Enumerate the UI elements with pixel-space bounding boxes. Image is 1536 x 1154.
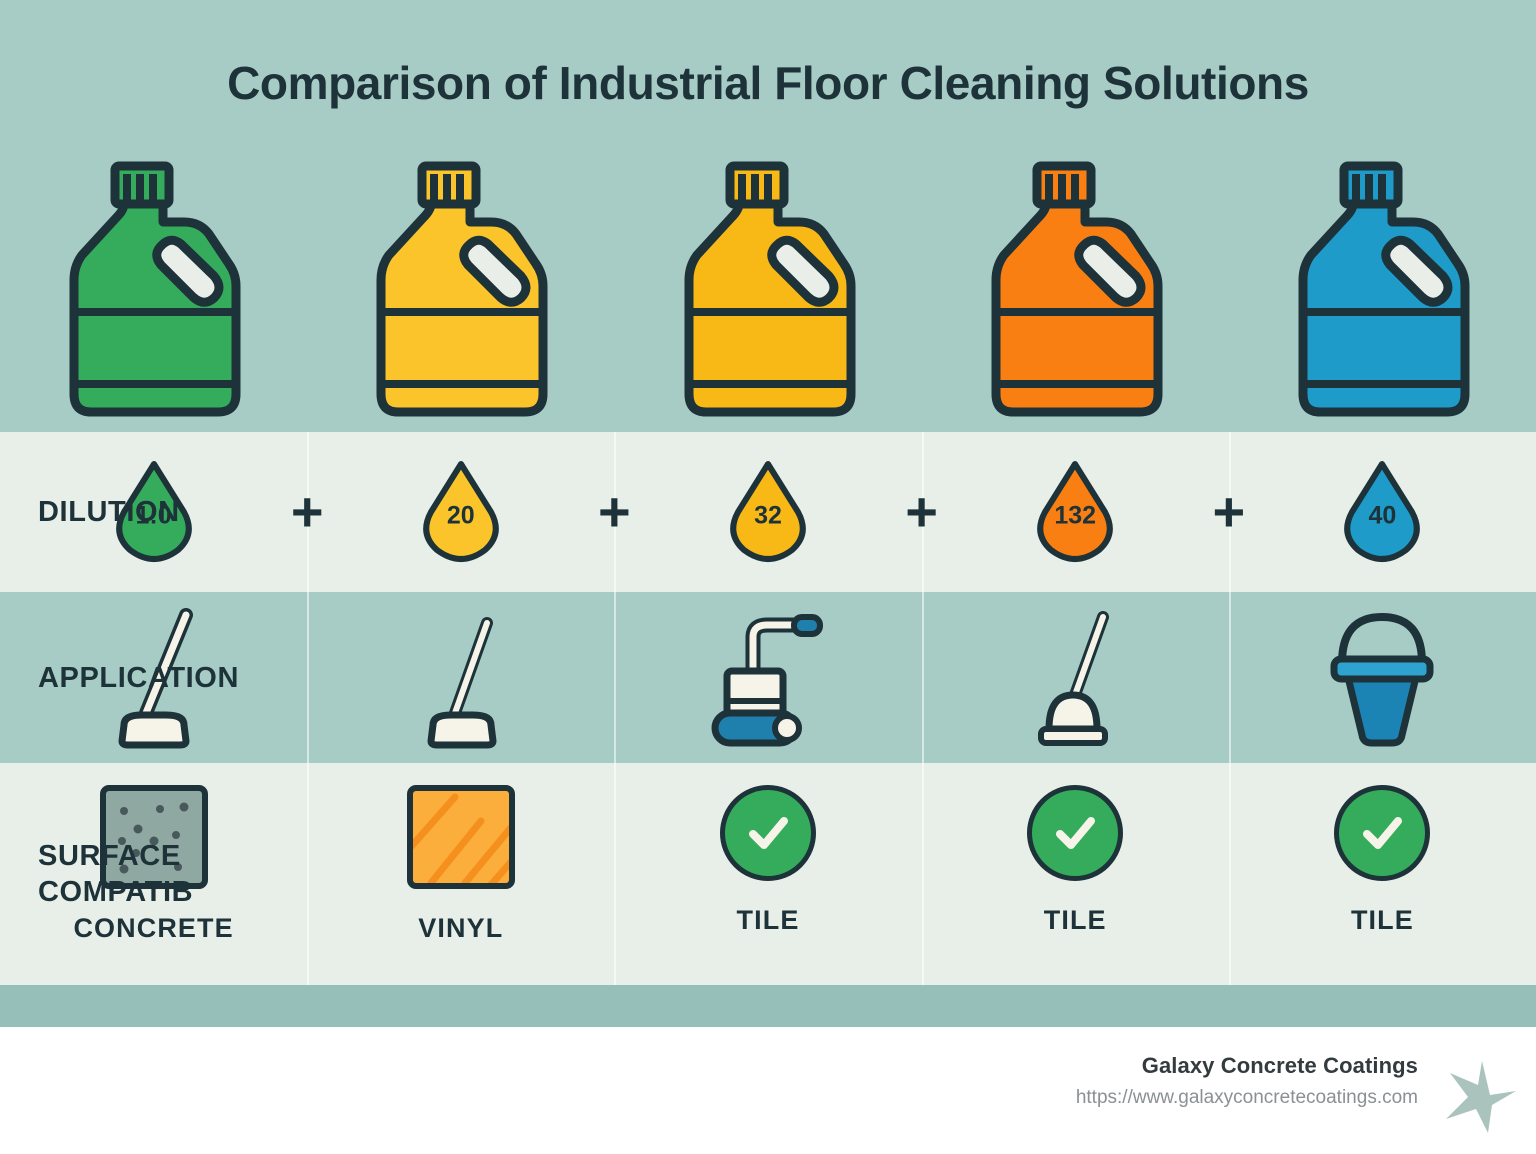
jug-bottle-icon [681,160,856,428]
surface-row-label: SURFACE COMPATIB [38,838,193,911]
bottle-cell-3 [614,148,921,428]
floor-scrubber-icon [693,603,843,753]
dilution-cell-3: + 32 [614,432,921,592]
bottle-row [0,148,1536,428]
application-cell-4 [922,592,1229,763]
dilution-value: 40 [1340,502,1424,531]
dilution-row-label: DILUTION [38,495,180,529]
surface-row: CONCRETE VINYL [0,763,1536,985]
dilution-drop-4: 132 [1033,460,1117,564]
application-row: APPLICATION [0,592,1536,763]
plus-separator-2: + [598,484,631,540]
dilution-row: 1:0 + 20 + [0,432,1536,592]
surface-cell-2: VINYL [307,763,614,985]
surface-cell-5: TILE [1229,763,1536,985]
plus-separator-4: + [1212,484,1245,540]
dilution-cell-2: + 20 [307,432,614,592]
surface-name-label: TILE [1044,905,1107,936]
jug-bottle-icon [66,160,241,428]
brand-name: Galaxy Concrete Coatings [1076,1053,1418,1079]
check-circle-icon [720,785,816,881]
surface-label-line1: SURFACE [38,838,193,874]
jug-bottle-icon [373,160,548,428]
surface-name-label: TILE [737,905,800,936]
star-logo-icon [1432,1057,1518,1142]
bucket-icon [1312,603,1452,753]
application-row-label: APPLICATION [38,660,239,694]
bottle-cell-5 [1229,148,1536,428]
vinyl-swatch-icon [407,785,515,889]
dilution-cell-4: + 132 [922,432,1229,592]
surface-cells: CONCRETE VINYL [0,763,1536,985]
mop-icon [401,603,521,753]
application-cell-5 [1229,592,1536,763]
check-circle-icon [1334,785,1430,881]
footer: Galaxy Concrete Coatings https://www.gal… [0,1027,1536,1154]
dilution-cells: 1:0 + 20 + [0,432,1536,592]
dilution-cell-5: + 40 [1229,432,1536,592]
dilution-value: 20 [419,502,503,531]
surface-label-line2: COMPATIB [38,874,193,910]
dilution-drop-2: 20 [419,460,503,564]
dilution-drop-3: 32 [726,460,810,564]
plus-separator-1: + [291,484,324,540]
plus-separator-3: + [905,484,938,540]
bottom-accent-strip [0,985,1536,1027]
bottle-cell-2 [307,148,614,428]
application-cell-2 [307,592,614,763]
mop-head-icon [1015,603,1135,753]
surface-cell-3: TILE [614,763,921,985]
jug-bottle-icon [1295,160,1470,428]
check-circle-icon [1027,785,1123,881]
dilution-value: 132 [1033,502,1117,531]
footer-text-block: Galaxy Concrete Coatings https://www.gal… [1076,1053,1418,1109]
surface-name-label: VINYL [418,913,503,944]
surface-name-label: TILE [1351,905,1414,936]
infographic-root: Comparison of Industrial Floor Cleaning … [0,0,1536,1154]
jug-bottle-icon [988,160,1163,428]
page-title: Comparison of Industrial Floor Cleaning … [0,56,1536,110]
bottle-cell-4 [922,148,1229,428]
surface-cell-4: TILE [922,763,1229,985]
dilution-drop-5: 40 [1340,460,1424,564]
application-cell-3 [614,592,921,763]
surface-name-label: CONCRETE [73,913,233,944]
dilution-value: 32 [726,502,810,531]
brand-url[interactable]: https://www.galaxyconcretecoatings.com [1076,1087,1418,1109]
bottle-cell-1 [0,148,307,428]
